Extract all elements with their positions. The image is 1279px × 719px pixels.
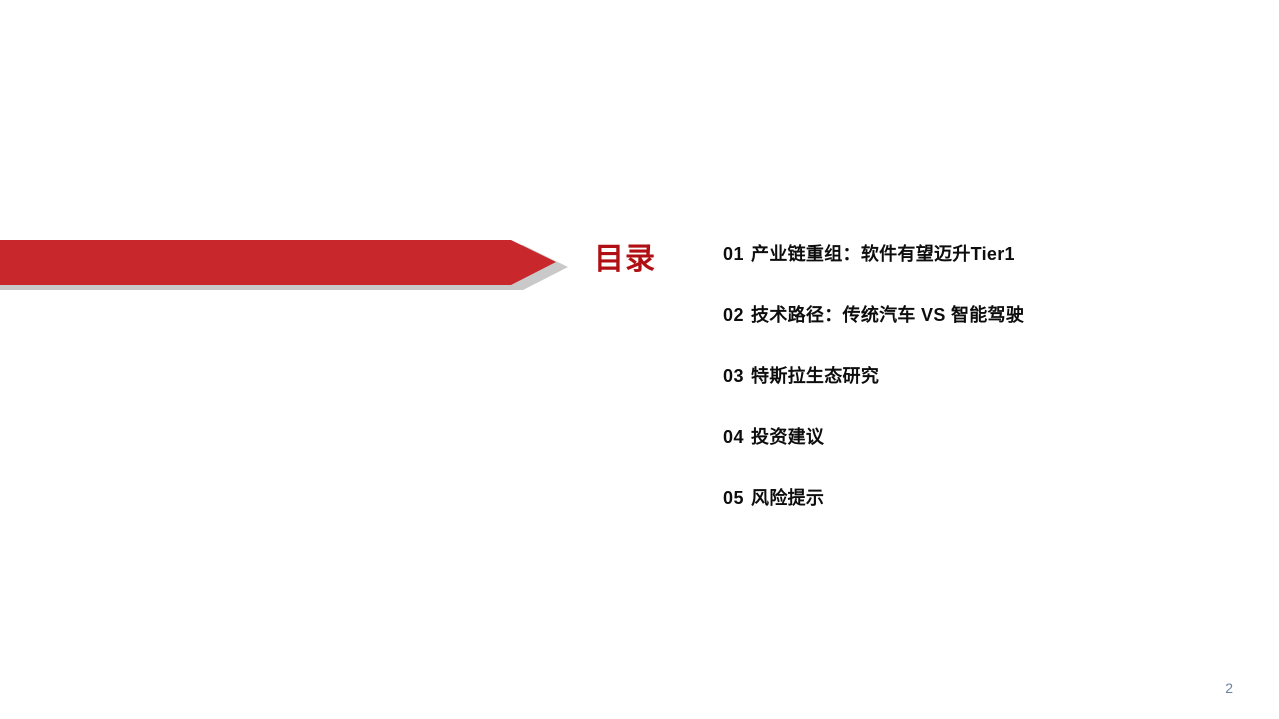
toc-item-label: 投资建议: [751, 424, 824, 450]
slide-canvas: 目录 01 产业链重组：软件有望迈升Tier1 02 技术路径：传统汽车 VS …: [0, 0, 1279, 719]
toc-item-01[interactable]: 01 产业链重组：软件有望迈升Tier1: [723, 241, 1243, 302]
toc-item-number: 05: [723, 485, 744, 511]
toc-item-03[interactable]: 03 特斯拉生态研究: [723, 363, 1243, 424]
toc-item-number: 01: [723, 241, 744, 267]
banner-arrow-graphic: [0, 233, 580, 293]
banner-arrow-red-shape: [0, 240, 556, 285]
toc-item-label: 风险提示: [751, 485, 824, 511]
toc-item-02[interactable]: 02 技术路径：传统汽车 VS 智能驾驶: [723, 302, 1243, 363]
toc-item-number: 02: [723, 302, 744, 328]
page-number: 2: [1225, 680, 1233, 696]
toc-item-04[interactable]: 04 投资建议: [723, 424, 1243, 485]
toc-item-label: 特斯拉生态研究: [751, 363, 879, 389]
toc-item-number: 04: [723, 424, 744, 450]
page-title: 目录: [594, 240, 656, 280]
toc-list: 01 产业链重组：软件有望迈升Tier1 02 技术路径：传统汽车 VS 智能驾…: [723, 241, 1243, 546]
toc-item-05[interactable]: 05 风险提示: [723, 485, 1243, 546]
toc-item-number: 03: [723, 363, 744, 389]
toc-item-label: 产业链重组：软件有望迈升Tier1: [751, 241, 1015, 267]
toc-item-label: 技术路径：传统汽车 VS 智能驾驶: [751, 302, 1024, 328]
